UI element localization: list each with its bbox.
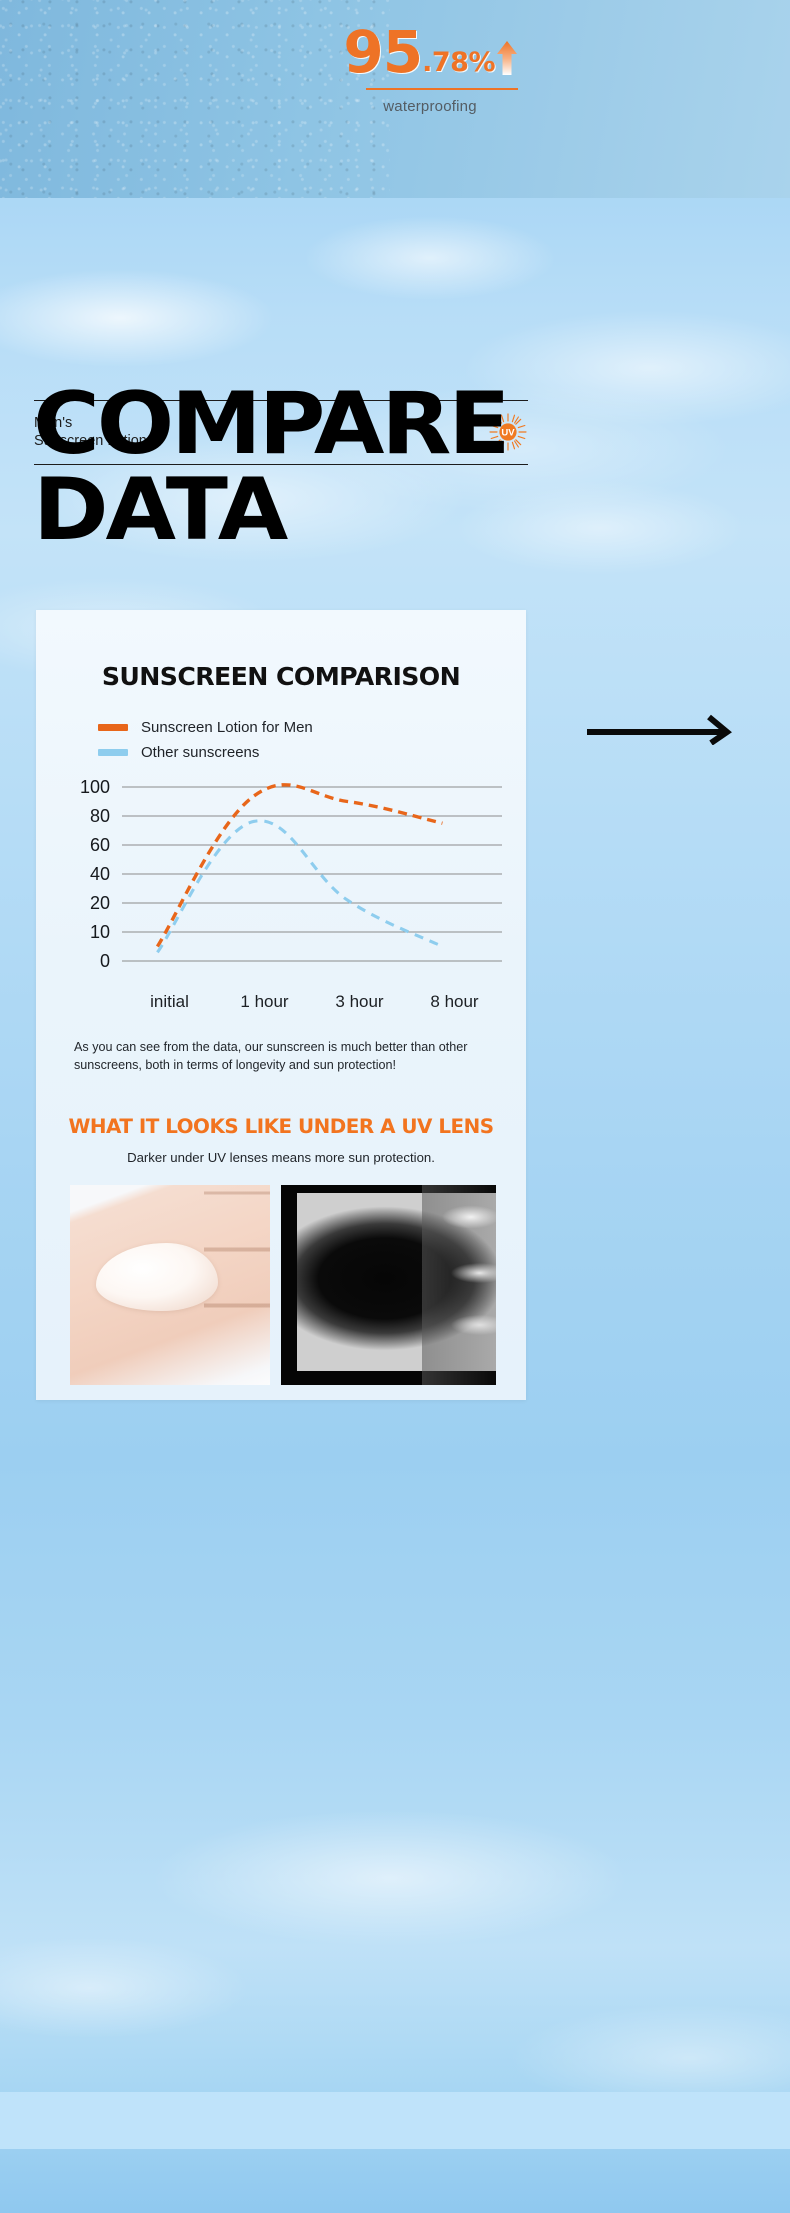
chart-gridlines [122, 787, 502, 961]
tanned-skin-photo [0, 0, 390, 198]
page-title: COMPARE DATA [33, 385, 507, 551]
x-tick-0: initial [122, 992, 217, 1012]
waterproofing-stat: 95 .78% waterproofing [348, 26, 518, 115]
x-tick-2: 3 hour [312, 992, 407, 1012]
y-tick-label: 10 [90, 922, 110, 942]
chart-title: SUNSCREEN COMPARISON [29, 610, 534, 691]
legend-item-1: Other sunscreens [98, 744, 526, 761]
chart-series-lines [157, 785, 442, 953]
chart-legend: Sunscreen Lotion for Men Other sunscreen… [98, 719, 526, 761]
x-tick-3: 8 hour [407, 992, 502, 1012]
x-tick-1: 1 hour [217, 992, 312, 1012]
uv-section-heading: WHAT IT LOOKS LIKE UNDER A UV LENS [31, 1115, 531, 1138]
series-line [157, 821, 442, 953]
comparison-card: SUNSCREEN COMPARISON Sunscreen Lotion fo… [36, 610, 526, 1400]
y-tick-label: 60 [90, 835, 110, 855]
chart-y-tick-labels: 10080604020100 [80, 779, 110, 971]
up-arrow-icon [496, 37, 518, 77]
legend-item-0: Sunscreen Lotion for Men [98, 719, 526, 736]
stat-caption: waterproofing [348, 98, 518, 115]
chart-x-tick-labels: initial 1 hour 3 hour 8 hour [36, 992, 526, 1012]
hand-with-cream-photo [70, 1185, 270, 1385]
page-title-line1: COMPARE [33, 385, 507, 465]
page-title-line2: DATA [33, 471, 507, 551]
y-tick-label: 40 [90, 864, 110, 884]
hero-banner: 95 .78% waterproofing [0, 0, 790, 198]
y-tick-label: 100 [80, 779, 110, 797]
legend-swatch-orange [98, 724, 128, 731]
stat-divider [366, 88, 518, 90]
stat-decimal-percent: .78% [422, 49, 495, 76]
long-right-arrow-icon [585, 705, 740, 745]
stat-value-row: 95 .78% [348, 26, 518, 79]
legend-swatch-blue [98, 749, 128, 756]
legend-label-1: Other sunscreens [141, 744, 259, 761]
y-tick-label: 20 [90, 893, 110, 913]
y-tick-label: 80 [90, 806, 110, 826]
bottom-light-band [0, 2092, 790, 2149]
uv-photo-pair [70, 1185, 526, 1385]
chart-svg: 10080604020100 [36, 779, 526, 984]
y-tick-label: 0 [100, 951, 110, 971]
water-droplets-texture [0, 0, 390, 198]
comparison-chart: 10080604020100 [36, 779, 526, 984]
legend-label-0: Sunscreen Lotion for Men [141, 719, 313, 736]
uv-section-subtext: Darker under UV lenses means more sun pr… [36, 1150, 526, 1165]
hand-under-uv-photo [281, 1185, 496, 1385]
stat-whole-number: 95 [343, 26, 422, 79]
series-line [157, 785, 442, 947]
chart-note: As you can see from the data, our sunscr… [74, 1038, 488, 1075]
